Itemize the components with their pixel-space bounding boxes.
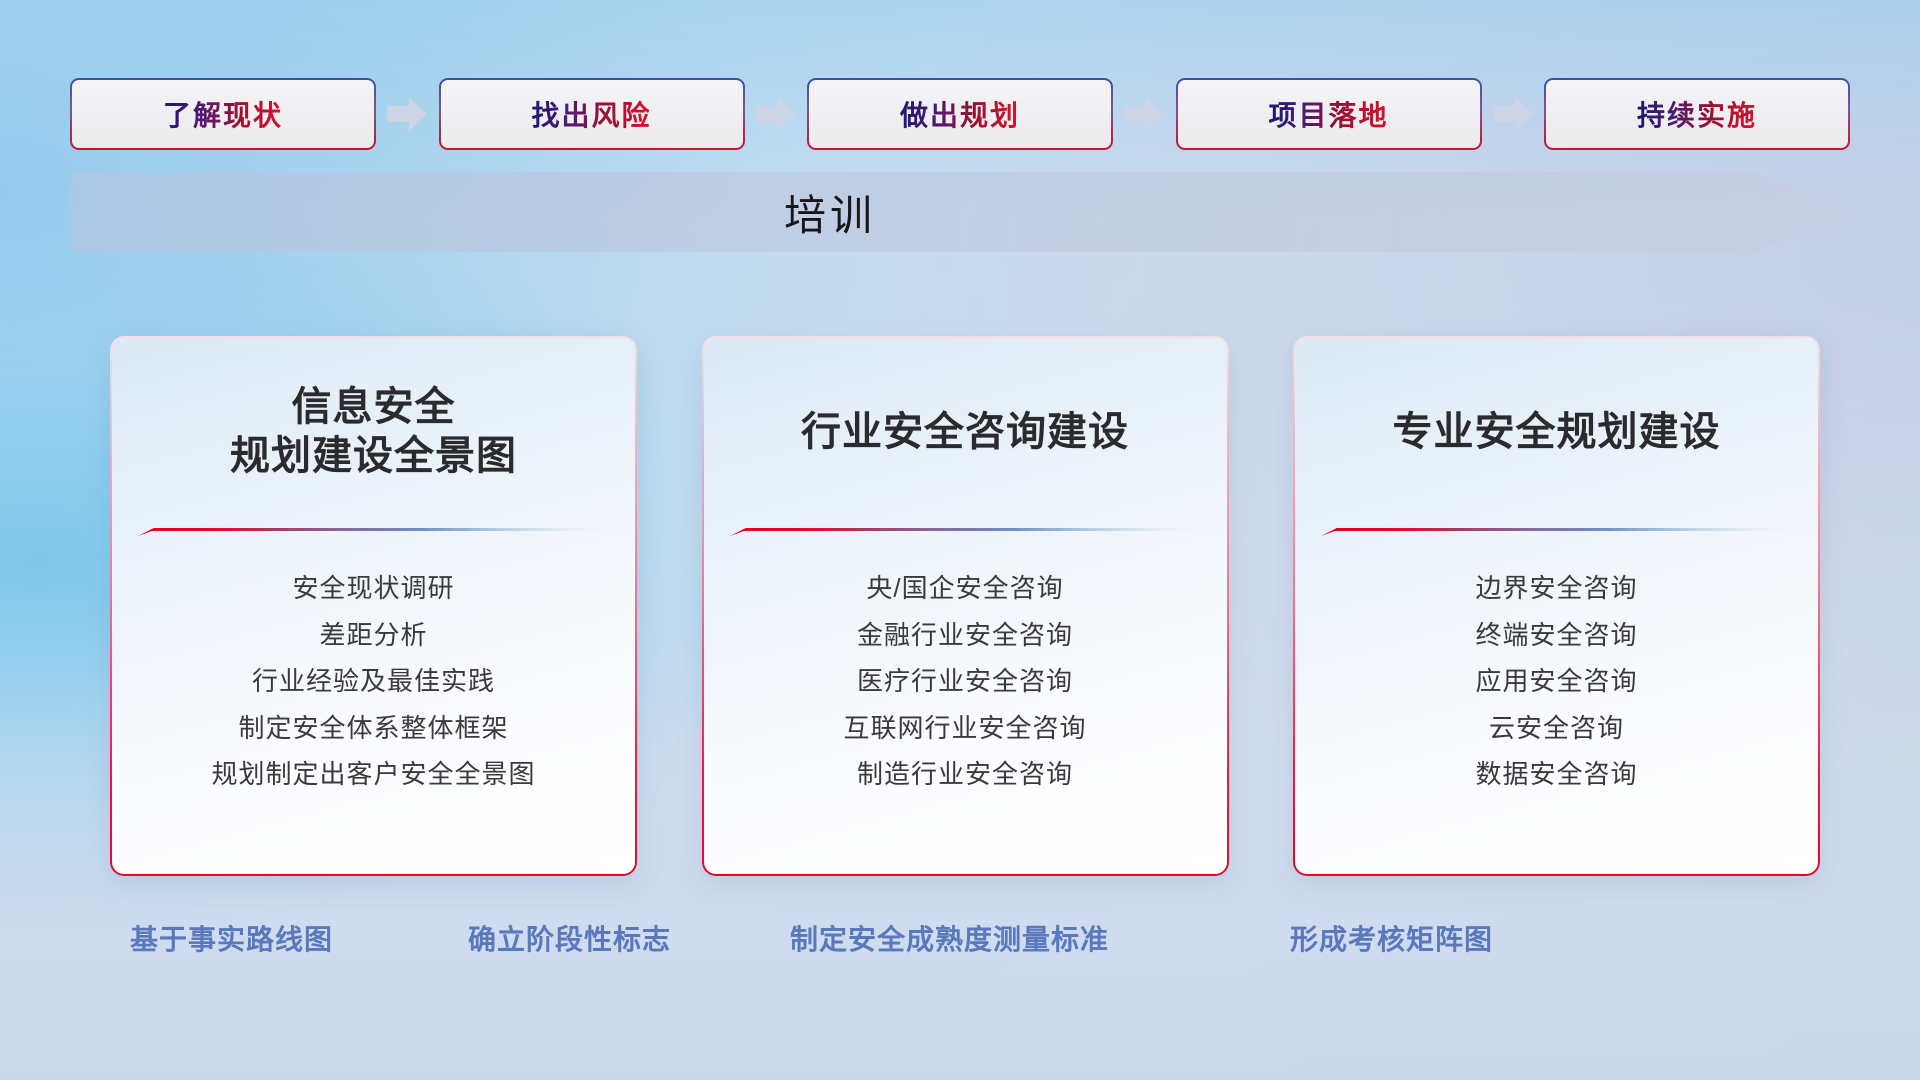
card-information-security-blueprint[interactable]: 信息安全 规划建设全景图: [110, 336, 637, 876]
process-step-3-surface: 做出规划: [809, 80, 1111, 148]
list-item: 应用安全咨询: [1475, 665, 1637, 698]
process-step-row: 了解现状 找出风险 做出规划 项目落地: [70, 78, 1850, 150]
process-step-3-label: 做出规划: [900, 94, 1020, 134]
card-professional-security-planning[interactable]: 专业安全规划建设: [1293, 336, 1820, 876]
list-item: 制定安全体系整体框架: [238, 712, 508, 745]
list-item: 边界安全咨询: [1475, 572, 1637, 605]
card-3-list: 边界安全咨询 终端安全咨询 应用安全咨询 云安全咨询 数据安全咨询: [1295, 538, 1818, 874]
card-1-list: 安全现状调研 差距分析 行业经验及最佳实践 制定安全体系整体框架 规划制定出客户…: [112, 538, 635, 874]
card-1-surface: 信息安全 规划建设全景图: [112, 338, 635, 874]
process-step-5-label: 持续实施: [1637, 94, 1757, 134]
process-step-2-surface: 找出风险: [441, 80, 743, 148]
process-step-4[interactable]: 项目落地: [1176, 78, 1482, 150]
list-item: 云安全咨询: [1489, 712, 1624, 745]
caption-row: 基于事实路线图 确立阶段性标志 制定安全成熟度测量标准 形成考核矩阵图: [0, 918, 1920, 966]
process-step-1-surface: 了解现状: [72, 80, 374, 148]
process-step-1[interactable]: 了解现状: [70, 78, 376, 150]
card-2-surface: 行业安全咨询建设: [704, 338, 1227, 874]
list-item: 央/国企安全咨询: [866, 572, 1063, 605]
list-item: 安全现状调研: [292, 572, 454, 605]
card-2-list: 央/国企安全咨询 金融行业安全咨询 医疗行业安全咨询 互联网行业安全咨询 制造行…: [704, 538, 1227, 874]
process-step-4-label: 项目落地: [1268, 94, 1388, 134]
card-3-header: 专业安全规划建设: [1295, 338, 1818, 526]
process-step-3[interactable]: 做出规划: [807, 78, 1113, 150]
banner-title: 培训: [0, 168, 1660, 256]
card-2-title: 行业安全咨询建设: [801, 408, 1129, 457]
process-step-1-label: 了解现状: [163, 94, 283, 134]
card-1-header: 信息安全 规划建设全景图: [112, 338, 635, 526]
list-item: 终端安全咨询: [1475, 619, 1637, 652]
cards-row: 信息安全 规划建设全景图: [110, 336, 1820, 876]
arrow-right-icon: [1122, 94, 1166, 134]
process-step-5[interactable]: 持续实施: [1544, 78, 1850, 150]
list-item: 数据安全咨询: [1475, 758, 1637, 791]
list-item: 医疗行业安全咨询: [857, 665, 1073, 698]
card-1-title: 信息安全 规划建设全景图: [230, 383, 517, 481]
arrow-right-icon: [1491, 94, 1535, 134]
card-3-title: 专业安全规划建设: [1393, 408, 1721, 457]
card-2-divider: [730, 526, 1193, 538]
arrow-right-icon: [754, 94, 798, 134]
caption-roadmap: 基于事实路线图: [130, 918, 333, 958]
list-item: 行业经验及最佳实践: [252, 665, 495, 698]
card-2-header: 行业安全咨询建设: [704, 338, 1227, 526]
list-item: 规划制定出客户安全全景图: [211, 758, 535, 791]
list-item: 金融行业安全咨询: [857, 619, 1073, 652]
list-item: 制造行业安全咨询: [857, 758, 1073, 791]
card-1-divider: [138, 526, 601, 538]
caption-review-matrix: 形成考核矩阵图: [1290, 918, 1493, 958]
arrow-right-icon: [385, 94, 429, 134]
card-3-divider: [1321, 526, 1784, 538]
list-item: 差距分析: [319, 619, 427, 652]
card-industry-security-consulting[interactable]: 行业安全咨询建设: [702, 336, 1229, 876]
process-step-4-surface: 项目落地: [1178, 80, 1480, 148]
process-step-2-label: 找出风险: [531, 94, 651, 134]
caption-milestones: 确立阶段性标志: [468, 918, 671, 958]
process-step-2[interactable]: 找出风险: [439, 78, 745, 150]
card-3-surface: 专业安全规划建设: [1295, 338, 1818, 874]
list-item: 互联网行业安全咨询: [843, 712, 1086, 745]
caption-maturity-scale: 制定安全成熟度测量标准: [790, 918, 1109, 958]
process-step-5-surface: 持续实施: [1546, 80, 1848, 148]
